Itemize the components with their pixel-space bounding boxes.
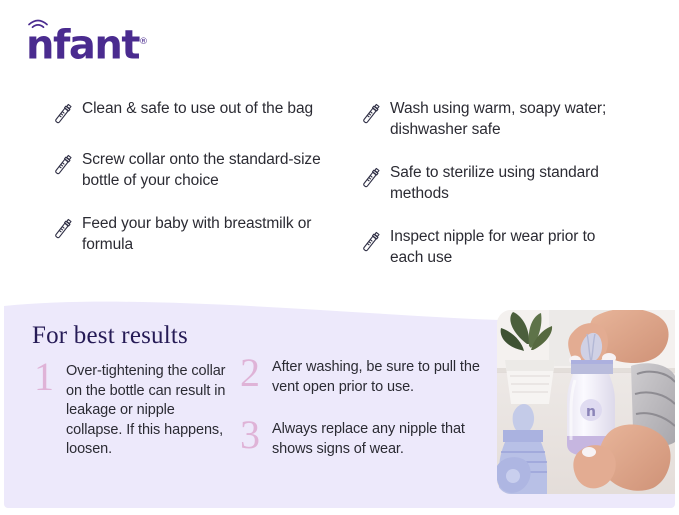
tip-item: 2 After washing, be sure to pull the ven… [240,358,490,397]
brand-logo: nfant® [26,20,186,68]
tip-text: Always replace any nipple that shows sig… [272,420,490,459]
baby-bottle-icon [358,165,386,191]
baby-bottle-icon [50,152,78,178]
panel-content: For best results 1 Over-tightening the c… [4,296,675,508]
feature-text: Wash using warm, soapy water; dishwasher… [386,98,630,140]
tip-item: 3 Always replace any nipple that shows s… [240,420,490,459]
baby-bottle-icon [358,101,386,127]
feature-item: Safe to sterilize using standard methods [358,162,630,204]
feature-item: Clean & safe to use out of the bag [50,98,322,127]
tip-item: 1 Over-tightening the collar on the bott… [34,362,234,460]
product-info-graphic: nfant® Clean & safe to use out of the [0,0,679,515]
svg-text:n: n [586,404,596,420]
tip-number: 3 [240,416,272,454]
tip-text: After washing, be sure to pull the vent … [272,358,490,397]
registered-mark: ® [139,37,148,47]
tip-text: Over-tightening the collar on the bottle… [66,362,228,460]
tip-number: 1 [34,358,66,396]
baby-bottle-icon [50,216,78,242]
feature-column-right: Wash using warm, soapy water; dishwasher… [358,98,630,290]
feature-column-left: Clean & safe to use out of the bag Screw… [50,98,322,290]
panel-heading: For best results [32,322,188,350]
feature-item: Wash using warm, soapy water; dishwasher… [358,98,630,140]
baby-bottle-icon [358,229,386,255]
feature-item: Screw collar onto the standard-size bott… [50,149,322,191]
feature-list: Clean & safe to use out of the bag Screw… [50,98,650,290]
brand-wordmark: nfant® [26,20,148,67]
product-photo-hands-holding-bottle: n [497,310,675,494]
feature-text: Feed your baby with breastmilk or formul… [78,213,322,255]
feature-text: Screw collar onto the standard-size bott… [78,149,322,191]
brand-name-text: nfant [26,22,139,68]
wifi-arc-icon [27,15,49,29]
best-results-panel: For best results 1 Over-tightening the c… [4,296,675,508]
feature-text: Safe to sterilize using standard methods [386,162,630,204]
feature-item: Feed your baby with breastmilk or formul… [50,213,322,255]
feature-text: Inspect nipple for wear prior to each us… [386,226,630,268]
tip-number: 2 [240,354,272,392]
feature-item: Inspect nipple for wear prior to each us… [358,226,630,268]
feature-text: Clean & safe to use out of the bag [78,98,313,119]
baby-bottle-icon [50,101,78,127]
